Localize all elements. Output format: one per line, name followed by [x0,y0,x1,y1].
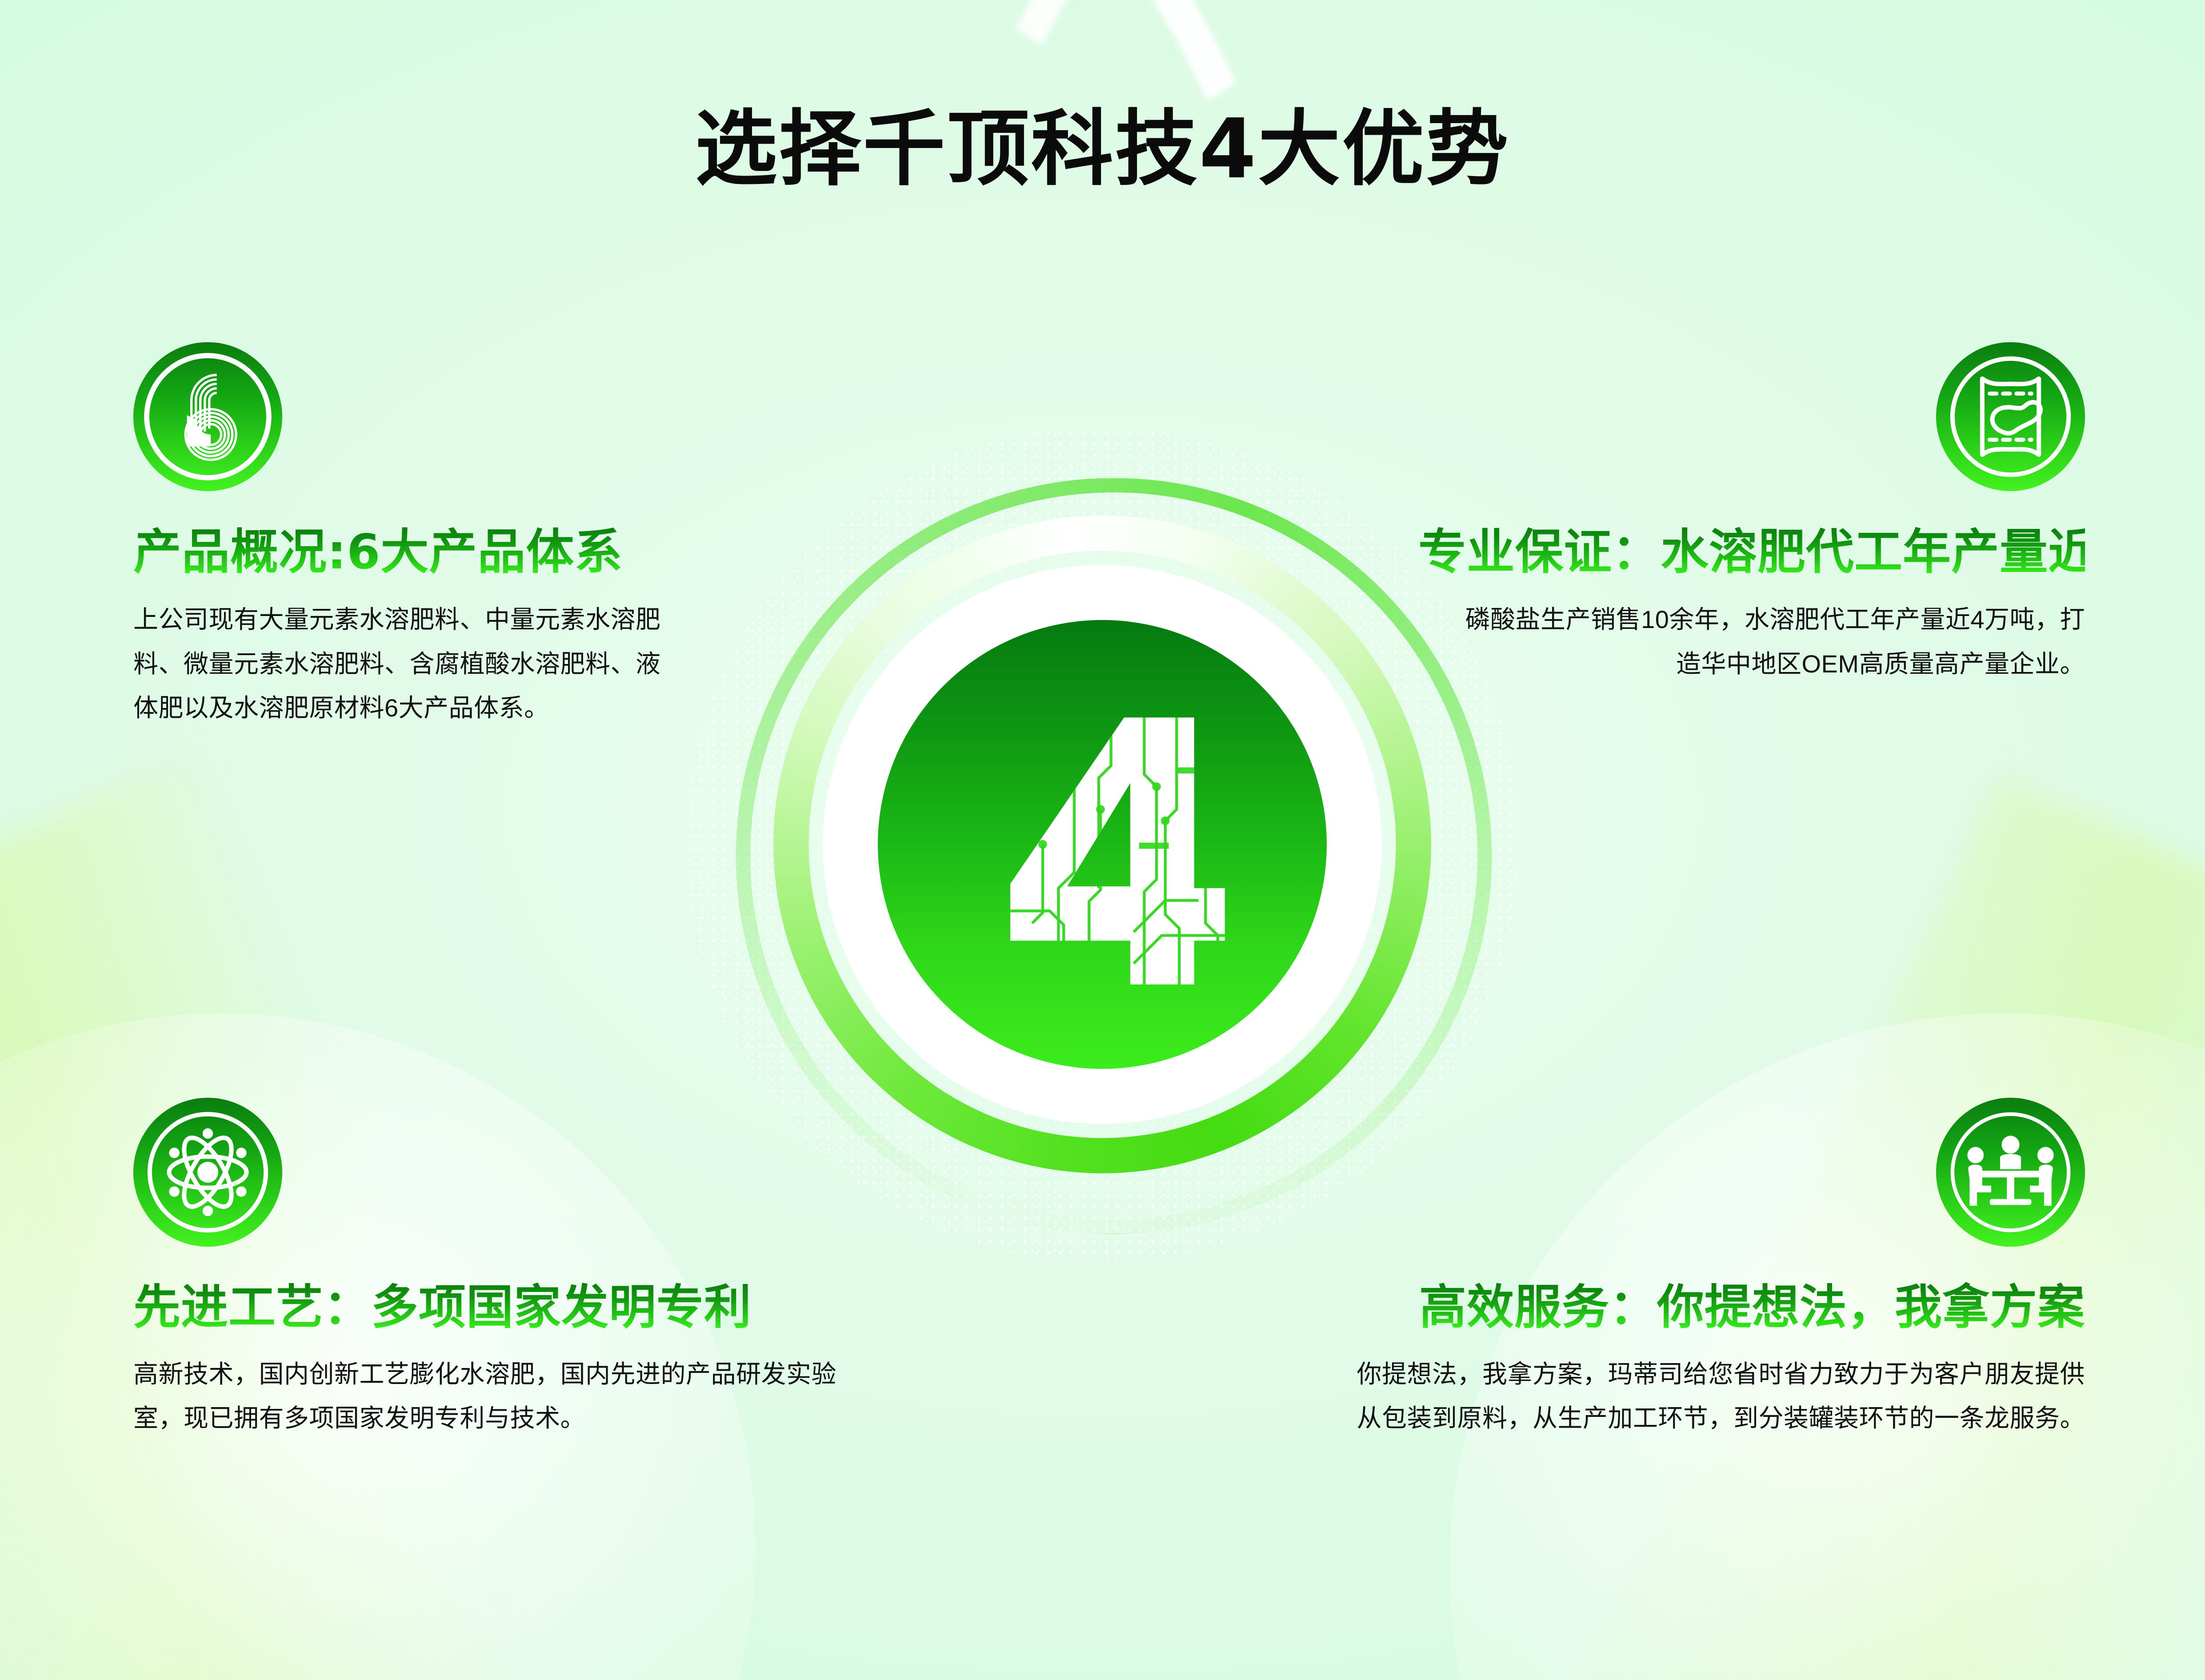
meeting-table-icon [1936,1098,2085,1247]
feature-body-text: 上公司现有大量元素水溶肥料、中量元素水溶肥料、微量元素水溶肥料、含腐植酸水溶肥料… [133,597,662,730]
feature-body-text: 磷酸盐生产销售10余年，水溶肥代工年产量近4万吨，打造华中地区OEM高质量高产量… [1454,597,2085,686]
number-four-circuit-icon [927,669,1277,1020]
feature-block-product-overview: 产品概况:6大产品体系 上公司现有大量元素水溶肥料、中量元素水溶肥料、微量元素水… [133,342,707,730]
center-number-disk [878,620,1327,1069]
page-title: 选择千顶科技4大优势 [0,82,2205,201]
feature-block-professional-guarantee: 专业保证：水溶肥代工年产量近4万吨 磷酸盐生产销售10余年，水溶肥代工年产量近4… [1418,342,2085,686]
fertilizer-bag-icon [1936,342,2085,491]
feature-heading: 高效服务：你提想法，我拿方案 [1321,1281,2085,1334]
atom-icon [133,1098,282,1247]
feature-heading: 产品概况:6大产品体系 [133,526,707,580]
feature-heading: 先进工艺：多项国家发明专利 [133,1281,889,1334]
number-six-badge-icon [133,342,282,491]
feature-body-text: 高新技术，国内创新工艺膨化水溶肥，国内先进的产品研发实验室，现已拥有多项国家发明… [133,1352,871,1440]
feature-block-advanced-process: 先进工艺：多项国家发明专利 高新技术，国内创新工艺膨化水溶肥，国内先进的产品研发… [133,1098,889,1440]
feature-block-efficient-service: 高效服务：你提想法，我拿方案 你提想法，我拿方案，玛蒂司给您省时省力致力于为客户… [1321,1098,2085,1440]
feature-body-text: 你提想法，我拿方案，玛蒂司给您省时省力致力于为客户朋友提供从包装到原料，从生产加… [1334,1352,2085,1440]
feature-heading: 专业保证：水溶肥代工年产量近4万吨 [1418,526,2085,580]
